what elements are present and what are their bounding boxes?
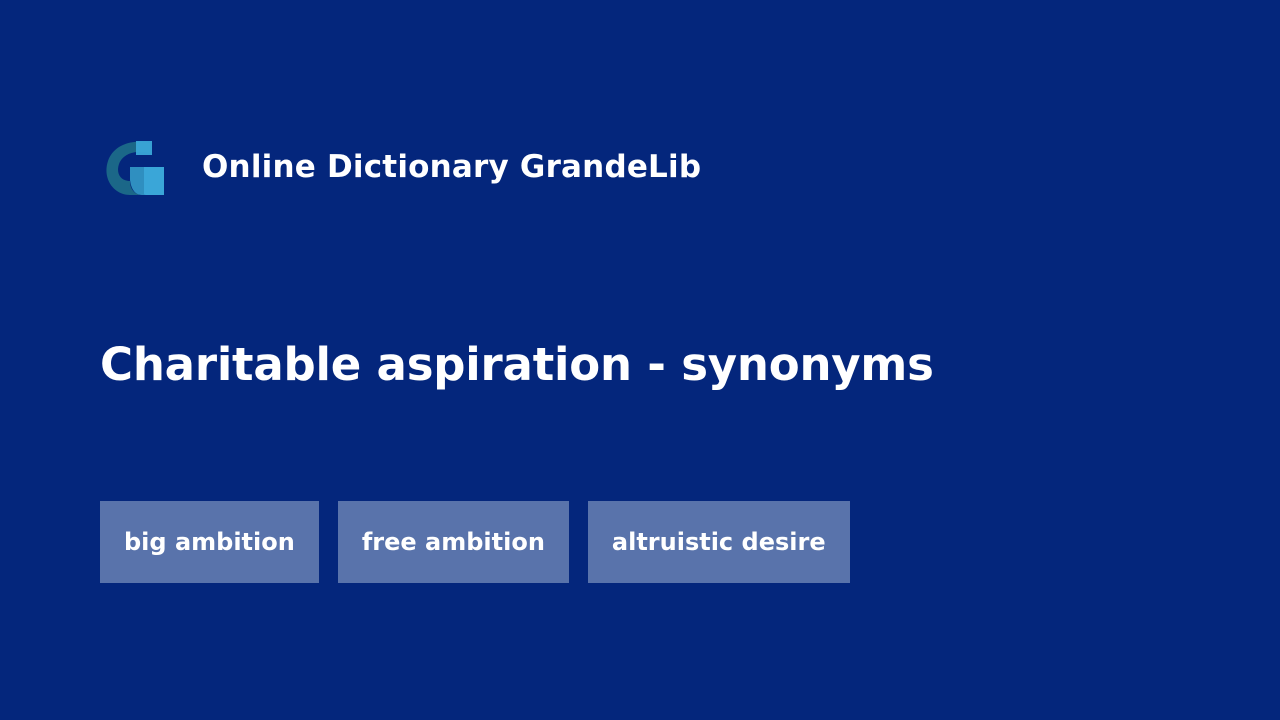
- page-root: Online Dictionary GrandeLib Charitable a…: [0, 0, 1280, 720]
- brand-title-prefix: Online Dictionary: [202, 149, 520, 185]
- brand-header: Online Dictionary GrandeLib: [100, 133, 701, 201]
- synonym-chip[interactable]: free ambition: [338, 501, 569, 583]
- synonym-list: big ambition free ambition altruistic de…: [100, 501, 869, 583]
- grandelib-g-logo-icon: [100, 133, 168, 201]
- brand-title: Online Dictionary GrandeLib: [202, 149, 701, 185]
- synonym-chip[interactable]: altruistic desire: [588, 501, 850, 583]
- brand-title-name: GrandeLib: [520, 149, 701, 185]
- synonym-chip[interactable]: big ambition: [100, 501, 319, 583]
- page-title: Charitable aspiration - synonyms: [100, 338, 934, 391]
